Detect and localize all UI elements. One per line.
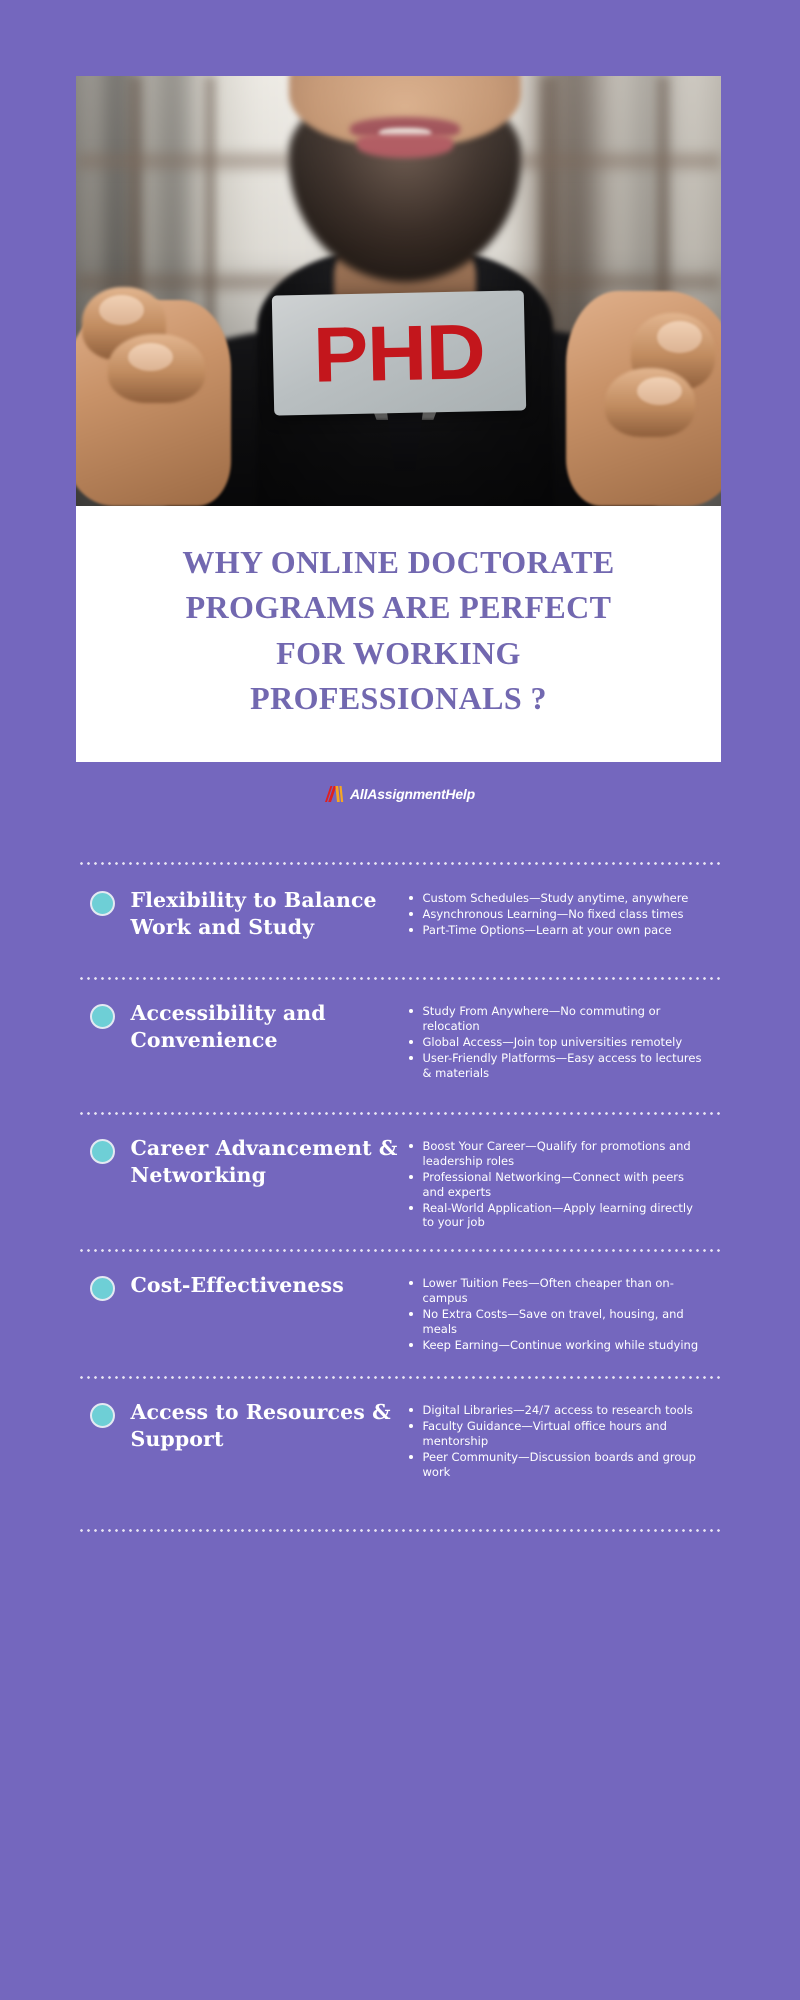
benefit-title: Accessibility and Convenience [131,1000,408,1054]
hero-card: PHD WHY ONLINE DOCTORATE PROGRAMS ARE PE… [76,76,721,762]
benefit-bullet-list: Digital Libraries—24/7 access to researc… [408,1403,708,1480]
benefit-heading-group: Accessibility and Convenience [78,1000,408,1054]
benefit-bullet-list: Boost Your Career—Qualify for promotions… [408,1139,708,1231]
page-title-line: FOR WORKING [136,631,661,676]
benefit-section-flexibility: Flexibility to Balance Work and Study Cu… [78,887,723,941]
benefit-bullet: Keep Earning—Continue working while stud… [408,1338,708,1353]
benefit-section-career: Career Advancement & Networking Boost Yo… [78,1135,723,1232]
benefit-title: Access to Resources & Support [131,1399,408,1453]
allassignmenthelp-mark-icon [325,786,347,802]
fingernail [128,343,173,371]
phd-card-text: PHD [312,313,485,395]
benefit-bullet: No Extra Costs—Save on travel, housing, … [408,1307,708,1337]
circle-marker-icon [90,1139,115,1164]
benefit-bullet: Study From Anywhere—No commuting or relo… [408,1004,708,1034]
fingernail [657,321,702,353]
benefit-heading-group: Flexibility to Balance Work and Study [78,887,408,941]
benefit-section-accessibility: Accessibility and Convenience Study From… [78,1000,723,1082]
benefit-bullet: Custom Schedules—Study anytime, anywhere [408,891,708,906]
benefit-details: Study From Anywhere—No commuting or relo… [408,1000,708,1082]
benefit-heading-group: Access to Resources & Support [78,1399,408,1453]
circle-marker-icon [90,1276,115,1301]
circle-marker-icon [90,1004,115,1029]
fingernail [99,295,144,325]
page-title: WHY ONLINE DOCTORATE PROGRAMS ARE PERFEC… [136,540,661,722]
benefit-bullet-list: Lower Tuition Fees—Often cheaper than on… [408,1276,708,1353]
benefit-bullet: Faculty Guidance—Virtual office hours an… [408,1419,708,1449]
benefit-bullet: Professional Networking—Connect with pee… [408,1170,708,1200]
benefits-list: Flexibility to Balance Work and Study Cu… [0,862,800,1532]
benefit-bullet: Real-World Application—Apply learning di… [408,1201,708,1231]
benefit-bullet-list: Custom Schedules—Study anytime, anywhere… [408,891,708,938]
brand-name: AllAssignmentHelp [350,786,475,802]
benefit-section-cost: Cost-Effectiveness Lower Tuition Fees—Of… [78,1272,723,1354]
benefit-bullet: User-Friendly Platforms—Easy access to l… [408,1051,708,1081]
benefit-title: Career Advancement & Networking [131,1135,408,1189]
benefit-details: Lower Tuition Fees—Often cheaper than on… [408,1272,708,1354]
benefit-details: Boost Your Career—Qualify for promotions… [408,1135,708,1232]
benefit-bullet: Peer Community—Discussion boards and gro… [408,1450,708,1480]
circle-marker-icon [90,1403,115,1428]
section-divider [78,1529,723,1532]
page-title-line: PROFESSIONALS ? [136,676,661,721]
benefit-bullet: Boost Your Career—Qualify for promotions… [408,1139,708,1169]
benefit-title: Flexibility to Balance Work and Study [131,887,408,941]
circle-marker-icon [90,891,115,916]
title-block: WHY ONLINE DOCTORATE PROGRAMS ARE PERFEC… [76,506,721,762]
benefit-bullet: Asynchronous Learning—No fixed class tim… [408,907,708,922]
benefit-bullet: Digital Libraries—24/7 access to researc… [408,1403,708,1418]
fingernail [637,377,682,405]
brand-logo[interactable]: AllAssignmentHelp [0,786,800,802]
benefit-heading-group: Cost-Effectiveness [78,1272,408,1301]
benefit-bullet: Global Access—Join top universities remo… [408,1035,708,1050]
benefit-details: Digital Libraries—24/7 access to researc… [408,1399,708,1481]
benefit-bullet: Part-Time Options—Learn at your own pace [408,923,708,938]
benefit-bullet-list: Study From Anywhere—No commuting or relo… [408,1004,708,1081]
page-title-line: PROGRAMS ARE PERFECT [136,585,661,630]
benefit-title: Cost-Effectiveness [131,1272,344,1299]
page-title-line: WHY ONLINE DOCTORATE [136,540,661,585]
benefit-heading-group: Career Advancement & Networking [78,1135,408,1189]
phd-business-card: PHD [271,291,525,417]
benefit-details: Custom Schedules—Study anytime, anywhere… [408,887,708,939]
benefit-bullet: Lower Tuition Fees—Often cheaper than on… [408,1276,708,1306]
hero-photo: PHD [76,76,721,506]
benefit-section-resources: Access to Resources & Support Digital Li… [78,1399,723,1481]
